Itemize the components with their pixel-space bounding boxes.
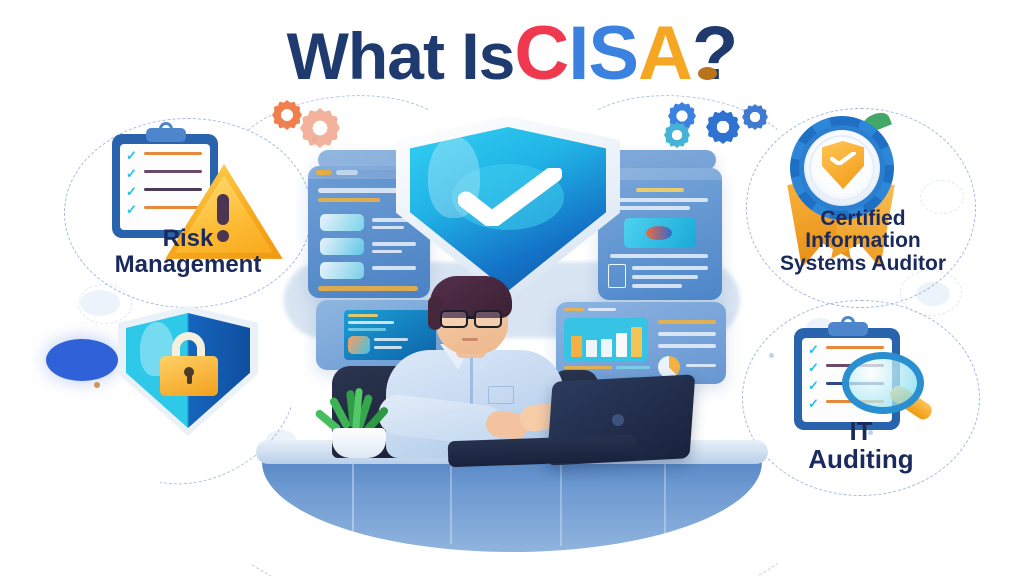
panel-row [616, 366, 650, 369]
potted-plant-icon[interactable] [316, 388, 402, 460]
clipboard-line [826, 346, 884, 349]
bar [571, 336, 582, 357]
panel-row [348, 328, 386, 331]
checkmark-icon: ✓ [808, 378, 819, 394]
risk-management-label: Risk Management [54, 226, 322, 277]
panel-titlebar-dot [336, 170, 358, 175]
title-letter-i: I [568, 16, 588, 92]
eyeglasses-bridge [468, 316, 476, 319]
panel-row [610, 198, 708, 202]
panel-row [632, 275, 698, 279]
checkmark-icon [458, 168, 562, 226]
checkmark-icon: ✓ [126, 148, 137, 164]
checkmark-icon [830, 152, 856, 165]
it-auditing-label: IT Auditing [742, 418, 980, 474]
infographic-canvas: What Is CISA? ✓ ✓ ✓ ✓ Risk Management [0, 0, 1024, 576]
panel-thumbnail [320, 262, 364, 279]
bar [586, 340, 597, 357]
panel-row [374, 338, 408, 341]
security-shield-group[interactable] [118, 306, 258, 436]
eyeglasses-icon [440, 310, 468, 328]
clipboard-line [144, 152, 202, 155]
panel-row [636, 188, 684, 192]
checkmark-icon: ✓ [126, 166, 137, 182]
clipboard-clip-ring [841, 316, 855, 328]
panel-row [348, 321, 394, 324]
panel-row [632, 266, 708, 270]
desk-panel-line [560, 464, 562, 546]
shirt-pocket [488, 386, 514, 404]
bg-dot [94, 382, 100, 388]
panel-row [632, 284, 682, 288]
checkmark-icon: ✓ [808, 360, 819, 376]
clipboard-line [144, 206, 202, 209]
panel-row [658, 344, 716, 348]
panel-row [564, 308, 584, 311]
panel-row [658, 332, 716, 336]
panel-thumbnail [320, 238, 364, 255]
panel-row [348, 314, 378, 317]
panel-titlebar-dot [316, 170, 332, 175]
panel-row [658, 320, 716, 324]
laptop-logo [612, 414, 624, 426]
panel-row [610, 206, 690, 210]
checkmark-icon: ✓ [808, 342, 819, 358]
panel-row [318, 198, 380, 202]
padlock-keyhole-stem [187, 374, 192, 384]
clipboard-line [144, 188, 202, 191]
title-what-is: What Is [287, 23, 515, 89]
plant-pot [332, 428, 386, 458]
bar [631, 327, 642, 357]
panel-row [610, 254, 708, 258]
accent-ellipse [46, 339, 118, 381]
desk-panel-line [664, 464, 666, 536]
panel-row [686, 364, 716, 367]
panel-row [564, 366, 612, 369]
desk-panel-line [450, 464, 452, 544]
title-question-mark: ? [692, 16, 737, 92]
hero-shield-group[interactable] [396, 116, 620, 302]
risk-management-group[interactable]: ✓ ✓ ✓ ✓ [64, 118, 312, 318]
exclamation-bar [217, 194, 229, 225]
person-mouth [462, 338, 478, 341]
panel-image-accent [646, 226, 672, 240]
panel-thumbnail [348, 336, 370, 354]
title-letter-s: S [588, 16, 638, 92]
checkmark-icon: ✓ [126, 202, 137, 218]
panel-thumbnail [320, 214, 364, 231]
question-mark-dot [698, 67, 717, 80]
eyeglasses-icon [474, 310, 502, 328]
desk-panel-line [352, 464, 354, 536]
bar [601, 339, 612, 357]
clipboard-line [144, 170, 202, 173]
panel-row [318, 188, 408, 193]
title-letter-c: C [514, 16, 568, 92]
bar [616, 333, 627, 357]
page-title: What Is CISA? [0, 16, 1024, 92]
panel-row [374, 346, 402, 349]
certified-auditor-label: Certified Information Systems Auditor [732, 208, 994, 275]
clipboard-clip-ring [159, 122, 173, 134]
magnifying-glass-icon [842, 352, 924, 414]
checkmark-icon: ✓ [808, 396, 819, 412]
panel-row [588, 308, 616, 311]
checkmark-icon: ✓ [126, 184, 137, 200]
title-letter-a: A [638, 16, 692, 92]
